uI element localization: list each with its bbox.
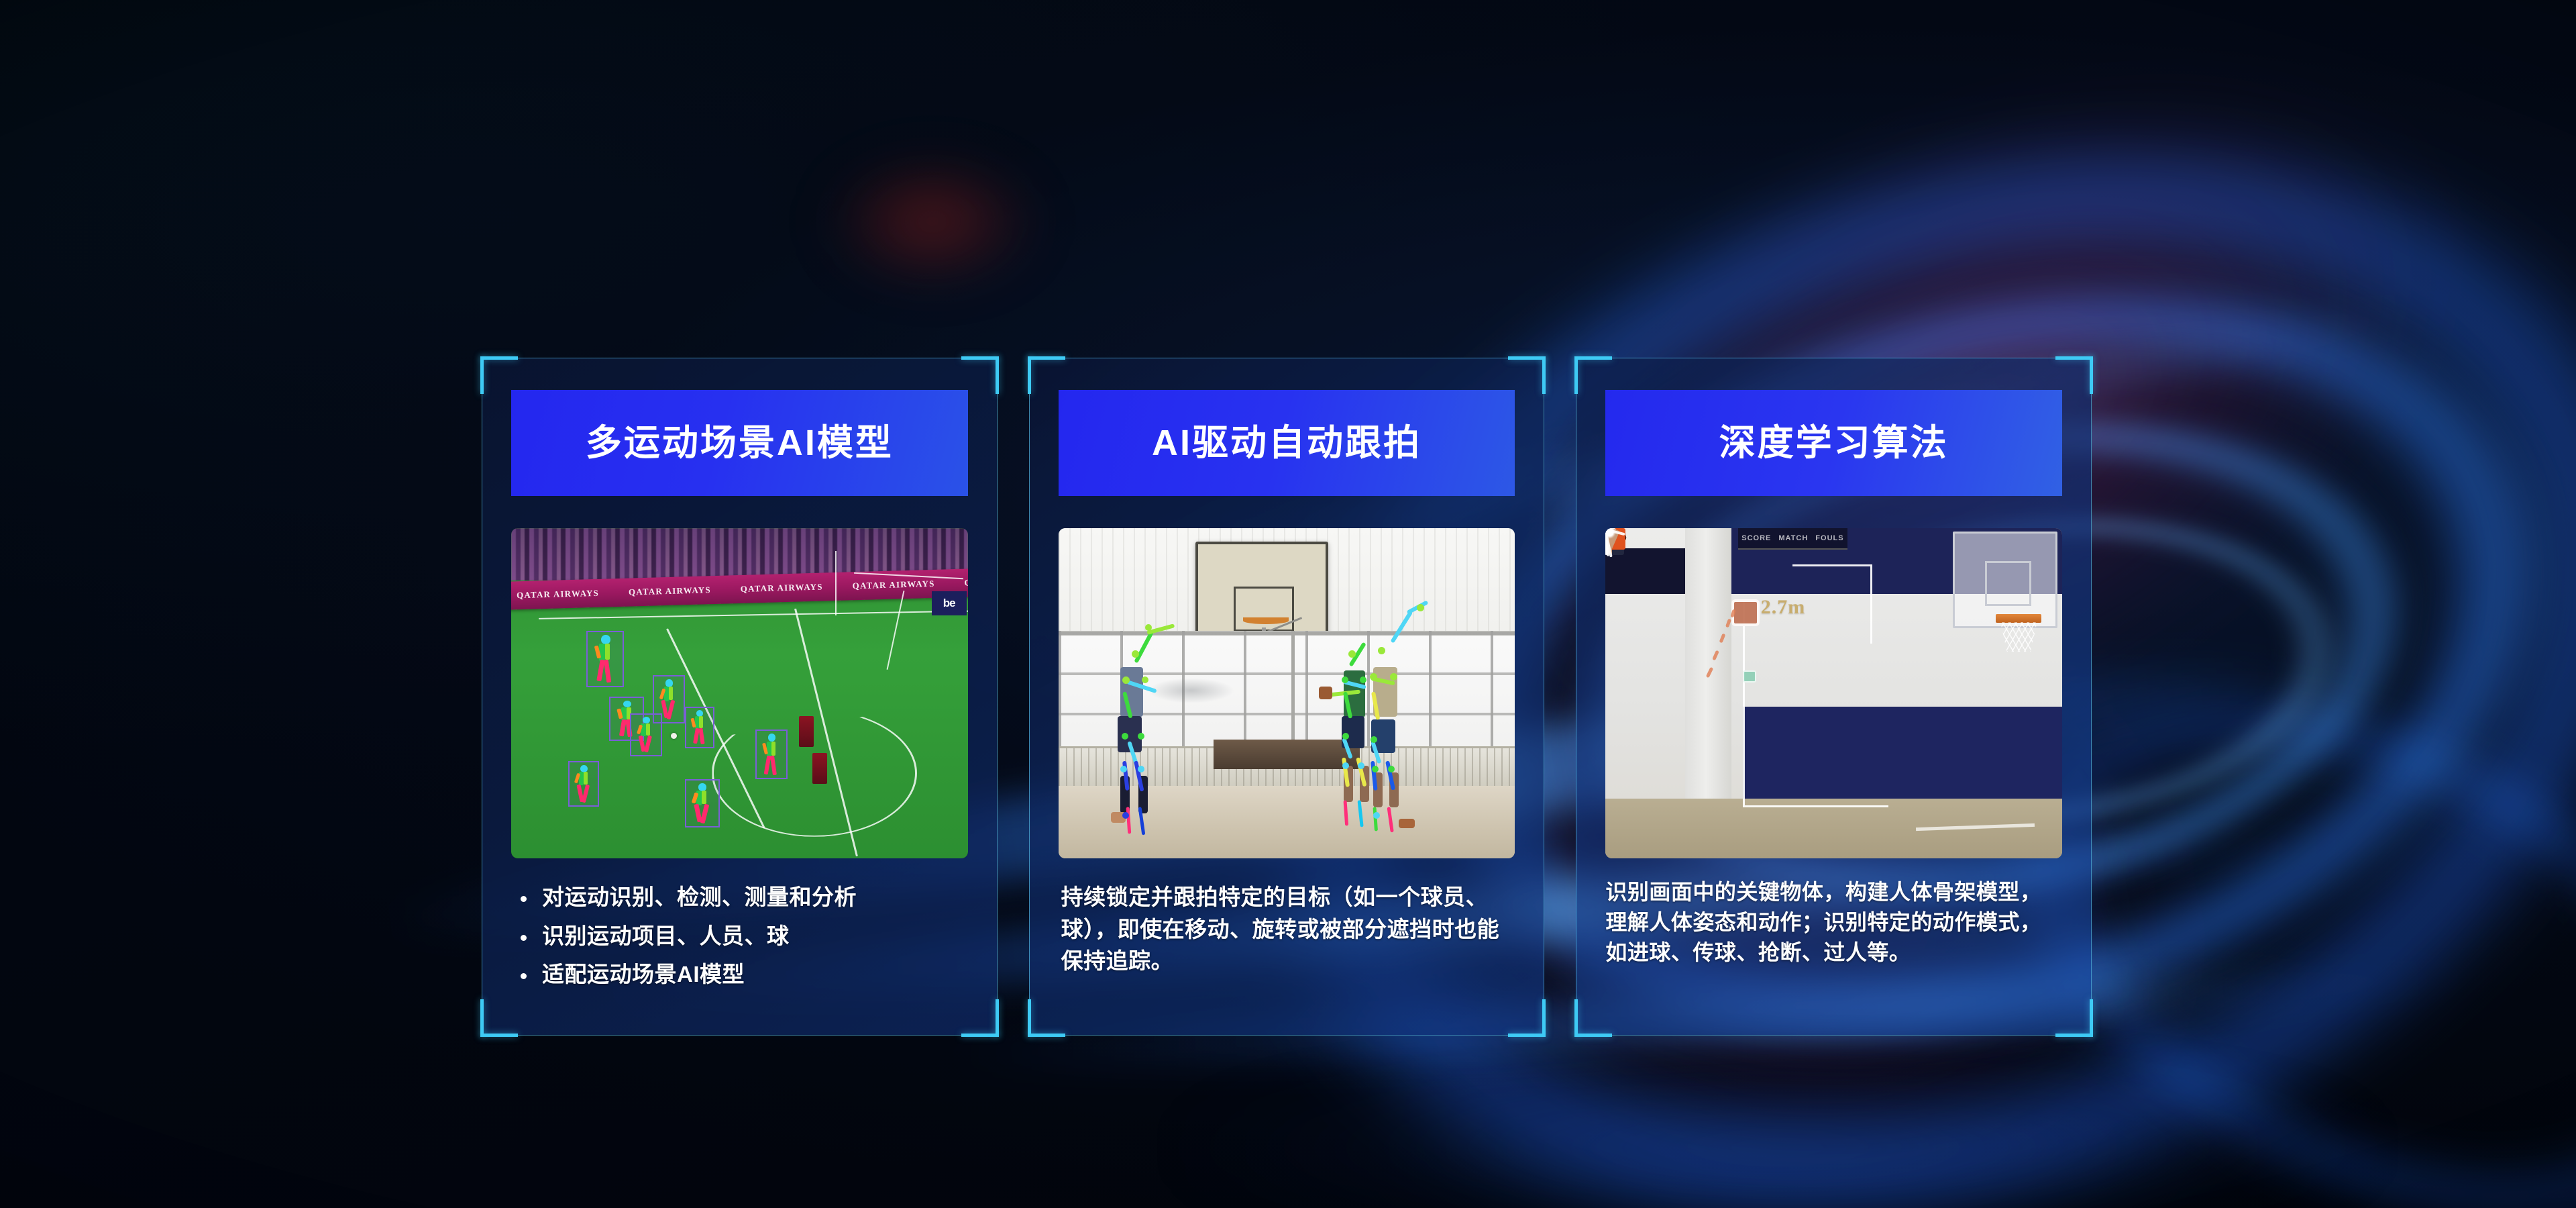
player-detection-box — [685, 707, 714, 748]
feature-card-deep-learning[interactable]: 深度学习算法 SCOREMATCHFOULS — [1576, 358, 2092, 1036]
sponsor-banner-text: QATAR AIRWAYS — [965, 575, 968, 588]
measure-guide-drop — [1743, 601, 1745, 805]
skeleton-torso-right — [584, 772, 588, 785]
left-joint-shoulder-r — [1142, 676, 1148, 683]
secondary-marker — [1743, 670, 1756, 683]
goal-post-line — [835, 551, 837, 615]
gym-pillar — [1685, 528, 1731, 799]
player-detection-box — [568, 761, 599, 807]
right-b-joint-knee-l — [1372, 766, 1379, 772]
card-body: 持续锁定并跟拍特定的目标（如一个球员、球），即使在移动、旋转或被部分遮挡时也能保… — [1061, 881, 1515, 977]
feature-bullet-item: 适配运动场景AI模型 — [511, 958, 968, 991]
skeleton-head — [768, 734, 775, 742]
scoreboard: SCOREMATCHFOULS — [1738, 528, 1847, 550]
skeleton-leg-right — [698, 728, 704, 745]
shot-height-measurement-image: SCOREMATCHFOULS 2.7m — [1605, 528, 2062, 858]
feature-bullet-list: 对运动识别、检测、测量和分析识别运动项目、人员、球适配运动场景AI模型 — [511, 881, 968, 991]
card-title: AI驱动自动跟拍 — [1152, 425, 1421, 461]
measure-guide-baseline — [1743, 805, 1889, 807]
card-paragraph: 识别画面中的关键物体，构建人体骨架模型，理解人体姿态和动作；识别特定的动作模式，… — [1605, 877, 2062, 967]
skeleton-leg-right — [644, 735, 652, 752]
skeleton-torso-right — [669, 687, 673, 700]
skeleton-leg-right — [604, 660, 612, 683]
sponsor-banner-text: QATAR AIRWAYS — [629, 585, 711, 597]
left-joint-hip-l — [1122, 733, 1128, 740]
right-b-shoe — [1399, 819, 1415, 828]
skeleton-torso-right — [699, 716, 703, 727]
skeleton-head — [623, 701, 631, 708]
measure-guide-vertical — [1870, 564, 1872, 644]
card-content: 深度学习算法 SCOREMATCHFOULS — [1605, 390, 2062, 1009]
skeleton-head — [601, 635, 610, 644]
skeleton-leg-right — [667, 700, 676, 719]
right-a-joint-head — [1348, 650, 1356, 658]
card-content: 多运动场景AI模型 QATAR AIRWAYSQATAR AIRWAYSQATA… — [511, 390, 968, 1009]
sponsor-banner-text: QATAR AIRWAYS — [853, 578, 935, 591]
card-paragraph: 持续锁定并跟拍特定的目标（如一个球员、球），即使在移动、旋转或被部分遮挡时也能保… — [1061, 881, 1515, 977]
skeleton-torso-right — [605, 644, 610, 660]
skeleton-head — [698, 783, 706, 791]
basketball-pose-tracking-image — [1059, 528, 1515, 858]
skeleton-torso-right — [646, 723, 650, 736]
undetected-player — [812, 753, 827, 784]
feature-card-row: 多运动场景AI模型 QATAR AIRWAYSQATAR AIRWAYSQATA… — [482, 358, 2092, 1036]
feature-card-ai-auto-tracking[interactable]: AI驱动自动跟拍 — [1029, 358, 1545, 1036]
skeleton-torso-right — [702, 791, 706, 804]
card-title-bar: 深度学习算法 — [1605, 390, 2062, 496]
sponsor-banner-text: QATAR AIRWAYS — [741, 582, 823, 595]
background-bottom-glow — [1006, 1047, 2549, 1208]
skeleton-torso — [599, 644, 604, 661]
backboard-inner-square — [1985, 561, 2031, 606]
scoreboard-label: SCORE — [1741, 534, 1771, 542]
player-detection-box — [630, 713, 662, 756]
card-body: 对运动识别、检测、测量和分析识别运动项目、人员、球适配运动场景AI模型 — [511, 881, 968, 997]
skeleton-head — [665, 679, 673, 687]
scoreboard-label: MATCH — [1778, 534, 1808, 542]
card-body: 识别画面中的关键物体，构建人体骨架模型，理解人体姿态和动作；识别特定的动作模式，… — [1605, 877, 2062, 967]
player-detection-box — [685, 779, 720, 827]
card-content: AI驱动自动跟拍 — [1059, 390, 1515, 1009]
basketball-backboard — [1195, 542, 1329, 640]
left-joint-ankle-l — [1122, 812, 1129, 819]
scoreboard-label: FOULS — [1815, 534, 1843, 542]
advert-board-label: be — [932, 591, 967, 615]
undetected-player — [799, 716, 814, 747]
soccer-detection-image: QATAR AIRWAYSQATAR AIRWAYSQATAR AIRWAYSQ… — [511, 528, 968, 858]
skeleton-head — [643, 717, 650, 723]
gym-navy-wall-pad — [1743, 707, 2062, 812]
background-red-spark — [792, 134, 1073, 309]
card-title-bar: AI驱动自动跟拍 — [1059, 390, 1515, 496]
left-joint-hand — [1145, 624, 1152, 631]
measurement-label: 2.7m — [1761, 596, 1806, 619]
skeleton-leg-right — [582, 785, 590, 803]
card-title: 多运动场景AI模型 — [586, 425, 894, 461]
feature-card-sports-ai-model[interactable]: 多运动场景AI模型 QATAR AIRWAYSQATAR AIRWAYSQATA… — [482, 358, 998, 1036]
player-detection-box — [586, 631, 624, 687]
measure-guide-horizontal — [1792, 564, 1870, 566]
skeleton-torso-right — [771, 742, 775, 756]
skeleton-head — [580, 765, 588, 772]
basketball-hoop — [1243, 617, 1289, 624]
radiator-dark-panel — [1214, 740, 1360, 769]
ball-tracking-box — [1731, 599, 1760, 626]
sponsor-banner-text: QATAR AIRWAYS — [517, 588, 599, 601]
slide-canvas: 多运动场景AI模型 QATAR AIRWAYSQATAR AIRWAYSQATA… — [0, 0, 2576, 1208]
card-title-bar: 多运动场景AI模型 — [511, 390, 968, 496]
skeleton-torso — [621, 707, 627, 721]
skeleton-leg-right — [770, 755, 777, 775]
player-detection-box — [755, 729, 788, 779]
basketball-in-hand — [1319, 687, 1332, 699]
left-joint-head — [1132, 650, 1139, 658]
skeleton-torso — [767, 742, 771, 756]
skeleton-leg-right — [700, 804, 708, 823]
basketball-rim — [1996, 614, 2041, 623]
feature-bullet-item: 对运动识别、检测、测量和分析 — [511, 881, 968, 913]
feature-bullet-item: 识别运动项目、人员、球 — [511, 920, 968, 952]
gym-floor — [1605, 799, 2062, 858]
card-title: 深度学习算法 — [1719, 425, 1949, 461]
